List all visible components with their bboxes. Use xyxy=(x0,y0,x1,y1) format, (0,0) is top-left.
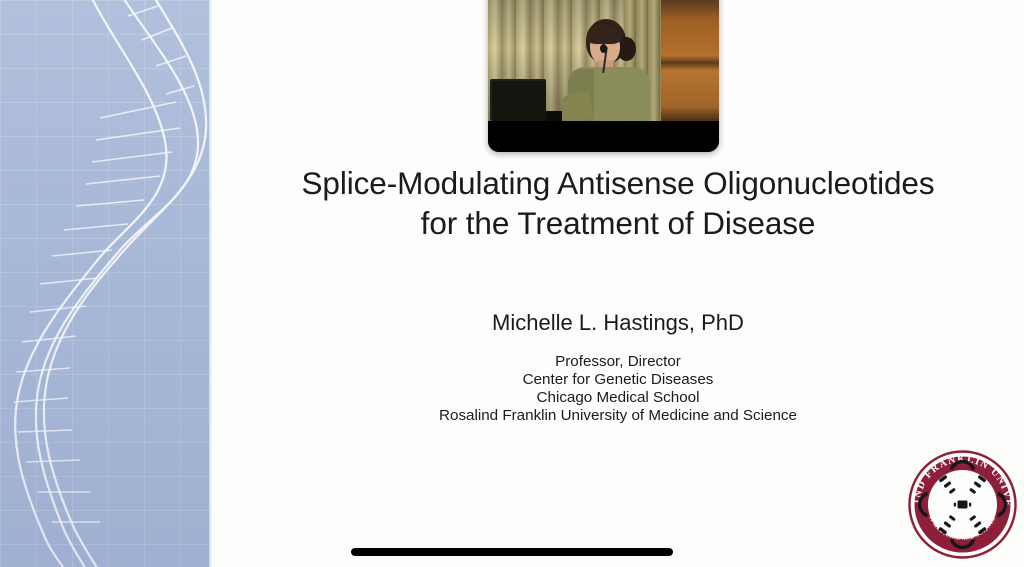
wood-panel xyxy=(661,0,719,121)
speaker-hair-front xyxy=(587,25,621,44)
podium-monitor xyxy=(490,79,546,121)
video-progress-bar[interactable] xyxy=(351,548,673,556)
video-frame xyxy=(488,0,719,121)
microphone-icon xyxy=(600,44,607,53)
affiliation-block: Professor, Director Center for Genetic D… xyxy=(212,353,1024,425)
affiliation-line-4: Rosalind Franklin University of Medicine… xyxy=(212,407,1024,425)
slide-title: Splice-Modulating Antisense Oligonucleot… xyxy=(212,163,1024,243)
university-seal-logo: ROSALIND FRANKLIN UNIVERSITY of MEDICINE… xyxy=(905,447,1020,562)
panel-edge xyxy=(209,0,212,567)
affiliation-line-2: Center for Genetic Diseases xyxy=(212,371,1024,389)
affiliation-line-1: Professor, Director xyxy=(212,353,1024,371)
speaker-arm xyxy=(559,90,594,121)
video-letterbox-bottom xyxy=(488,121,719,152)
author-name: Michelle L. Hastings, PhD xyxy=(212,309,1024,337)
presenter-video[interactable] xyxy=(488,0,719,152)
author-block: Michelle L. Hastings, PhD Professor, Dir… xyxy=(212,309,1024,425)
panel-shading xyxy=(0,0,212,567)
dna-helix-decoration xyxy=(0,0,212,567)
presentation-slide: Splice-Modulating Antisense Oligonucleot… xyxy=(0,0,1024,567)
speaker-figure xyxy=(560,17,656,121)
title-line-2: for the Treatment of Disease xyxy=(212,203,1024,243)
title-line-1: Splice-Modulating Antisense Oligonucleot… xyxy=(212,163,1024,203)
affiliation-line-3: Chicago Medical School xyxy=(212,389,1024,407)
